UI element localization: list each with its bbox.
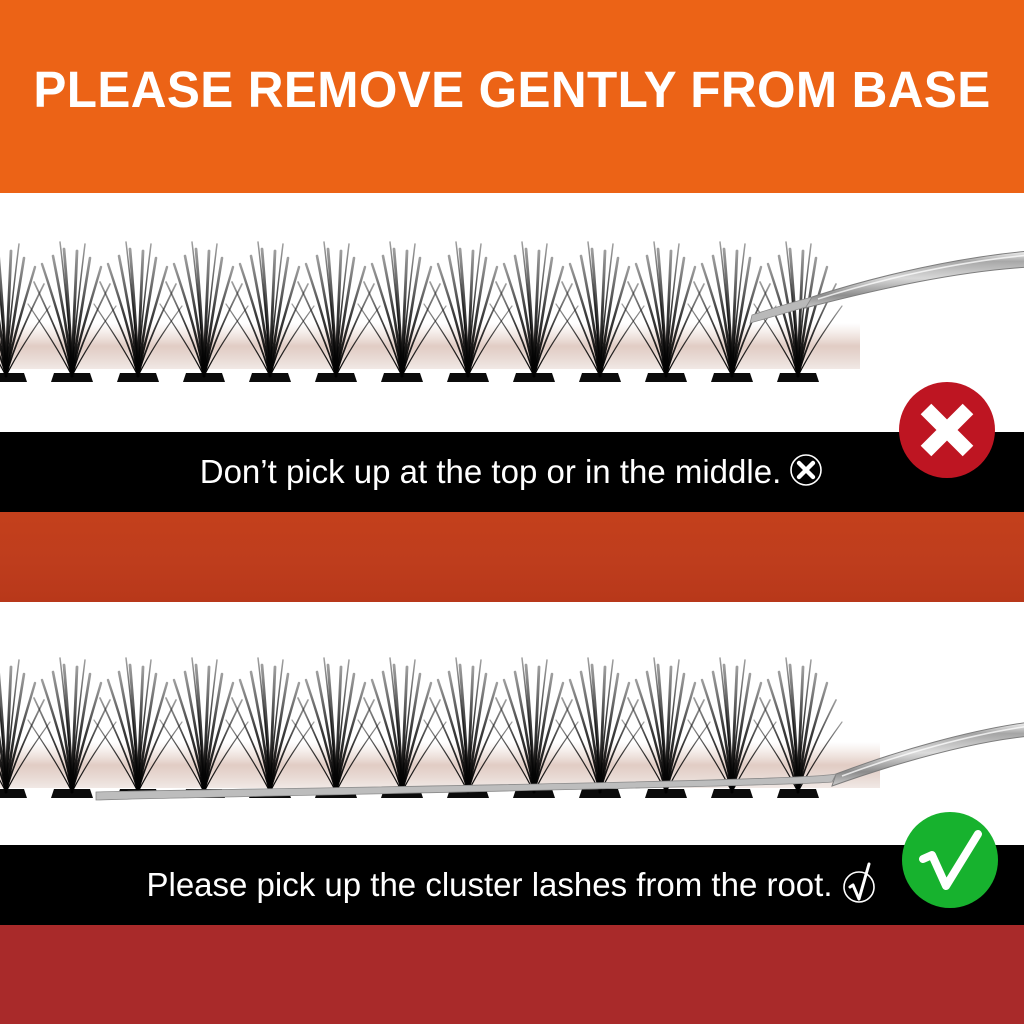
divider-band-bottom bbox=[0, 925, 1024, 1024]
lash-photo-incorrect bbox=[0, 193, 1024, 432]
caption-text-incorrect: Don’t pick up at the top or in the middl… bbox=[200, 453, 782, 491]
caption-bar-correct: Please pick up the cluster lashes from t… bbox=[0, 845, 1024, 925]
x-badge bbox=[899, 382, 995, 478]
circled-x-icon bbox=[788, 452, 824, 493]
page-title: PLEASE REMOVE GENTLY FROM BASE bbox=[15, 62, 1008, 118]
header-band: PLEASE REMOVE GENTLY FROM BASE bbox=[0, 0, 1024, 193]
check-badge bbox=[902, 812, 998, 908]
divider-band-middle bbox=[0, 512, 1024, 602]
caption-bar-incorrect: Don’t pick up at the top or in the middl… bbox=[0, 432, 1024, 512]
product-instruction-image: PLEASE REMOVE GENTLY FROM BASE bbox=[0, 0, 1024, 1024]
caption-text-correct: Please pick up the cluster lashes from t… bbox=[146, 866, 832, 904]
circled-check-icon bbox=[840, 860, 878, 911]
lash-photo-correct bbox=[0, 602, 1024, 845]
